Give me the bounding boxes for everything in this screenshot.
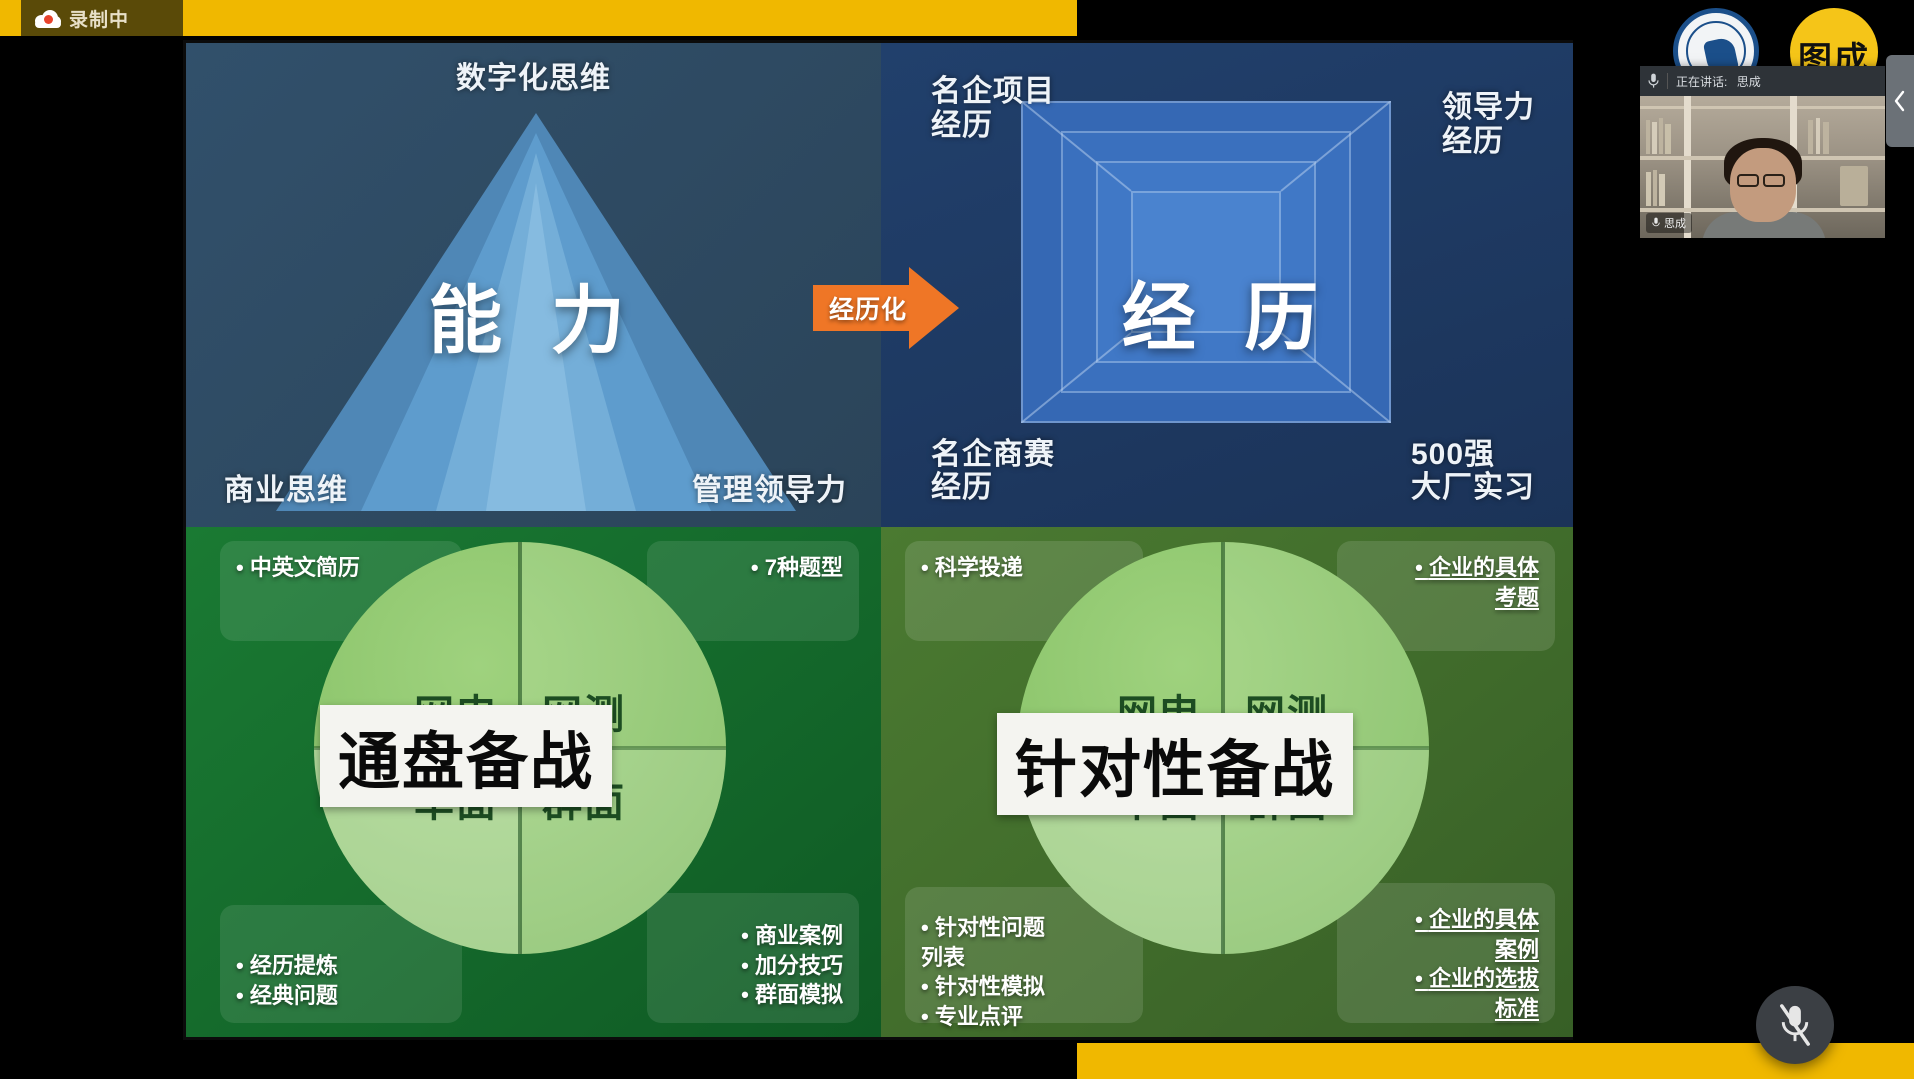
video-stream: 思成 — [1640, 96, 1885, 238]
speaker-name-tag: 思成 — [1646, 213, 1692, 233]
label-leadership-experience: 领导力 经历 — [1442, 91, 1535, 158]
mute-microphone-button[interactable] — [1756, 986, 1834, 1064]
banner-targeted-prep: 针对性备战 — [997, 713, 1353, 815]
quadrant-comprehensive-prep: 中英文简历 7种题型 经历提炼 经典问题 商业案例 加分技巧 群面模拟 网申 — [186, 527, 881, 1037]
word-experience: 经 历 — [881, 258, 1573, 365]
quadrant-ability: 数字化思维 商业思维 管理领导力 能 力 — [186, 43, 881, 527]
microphone-muted-icon — [1778, 1003, 1812, 1047]
quadrant-targeted-prep: 科学投递 企业的具体 考题 针对性问题 列表 针对性模拟 专业点评 企业的具体 … — [881, 527, 1573, 1037]
cloud-record-icon — [35, 10, 61, 27]
label-digital-thinking: 数字化思维 — [186, 53, 881, 97]
quadrant-experience: 名企项目 经历 领导力 经历 名企商赛 经历 500强 大厂实习 经 历 — [881, 43, 1573, 527]
recording-bar: 录制中 — [0, 0, 1077, 36]
presentation-slide: 数字化思维 商业思维 管理领导力 能 力 名企项目 经历 领导力 经历 名企商赛… — [183, 40, 1573, 1040]
speaking-prefix: 正在讲话: — [1676, 75, 1727, 89]
name-tag-label: 思成 — [1664, 215, 1686, 231]
label-business-thinking: 商业思维 — [224, 465, 348, 509]
speaking-label: 正在讲话: 思成 — [1676, 73, 1761, 90]
label-management-leadership: 管理领导力 — [692, 465, 847, 509]
label-firm-project-experience: 名企项目 经历 — [931, 75, 1055, 142]
speaker-video-panel[interactable]: 正在讲话: 思成 思成 — [1640, 66, 1885, 238]
chevron-left-icon — [1893, 90, 1907, 112]
recording-indicator: 录制中 — [21, 0, 183, 36]
arrow-label: 经历化 — [829, 290, 907, 326]
banner-comprehensive-prep: 通盘备战 — [320, 705, 612, 807]
video-header: 正在讲话: 思成 — [1640, 66, 1885, 96]
recording-label: 录制中 — [69, 5, 129, 32]
transformation-arrow: 经历化 — [813, 267, 959, 349]
label-fortune500-internship: 500强 大厂实习 — [1411, 438, 1535, 505]
word-ability: 能 力 — [186, 261, 881, 368]
microphone-icon — [1648, 73, 1659, 89]
microphone-icon — [1652, 217, 1660, 229]
label-firm-competition-experience: 名企商赛 经历 — [931, 438, 1055, 505]
speaker-name: 思成 — [1737, 75, 1761, 89]
collapse-panel-button[interactable] — [1886, 55, 1914, 147]
bullets-bl-bottomleft: 经历提炼 经典问题 — [236, 951, 446, 1010]
